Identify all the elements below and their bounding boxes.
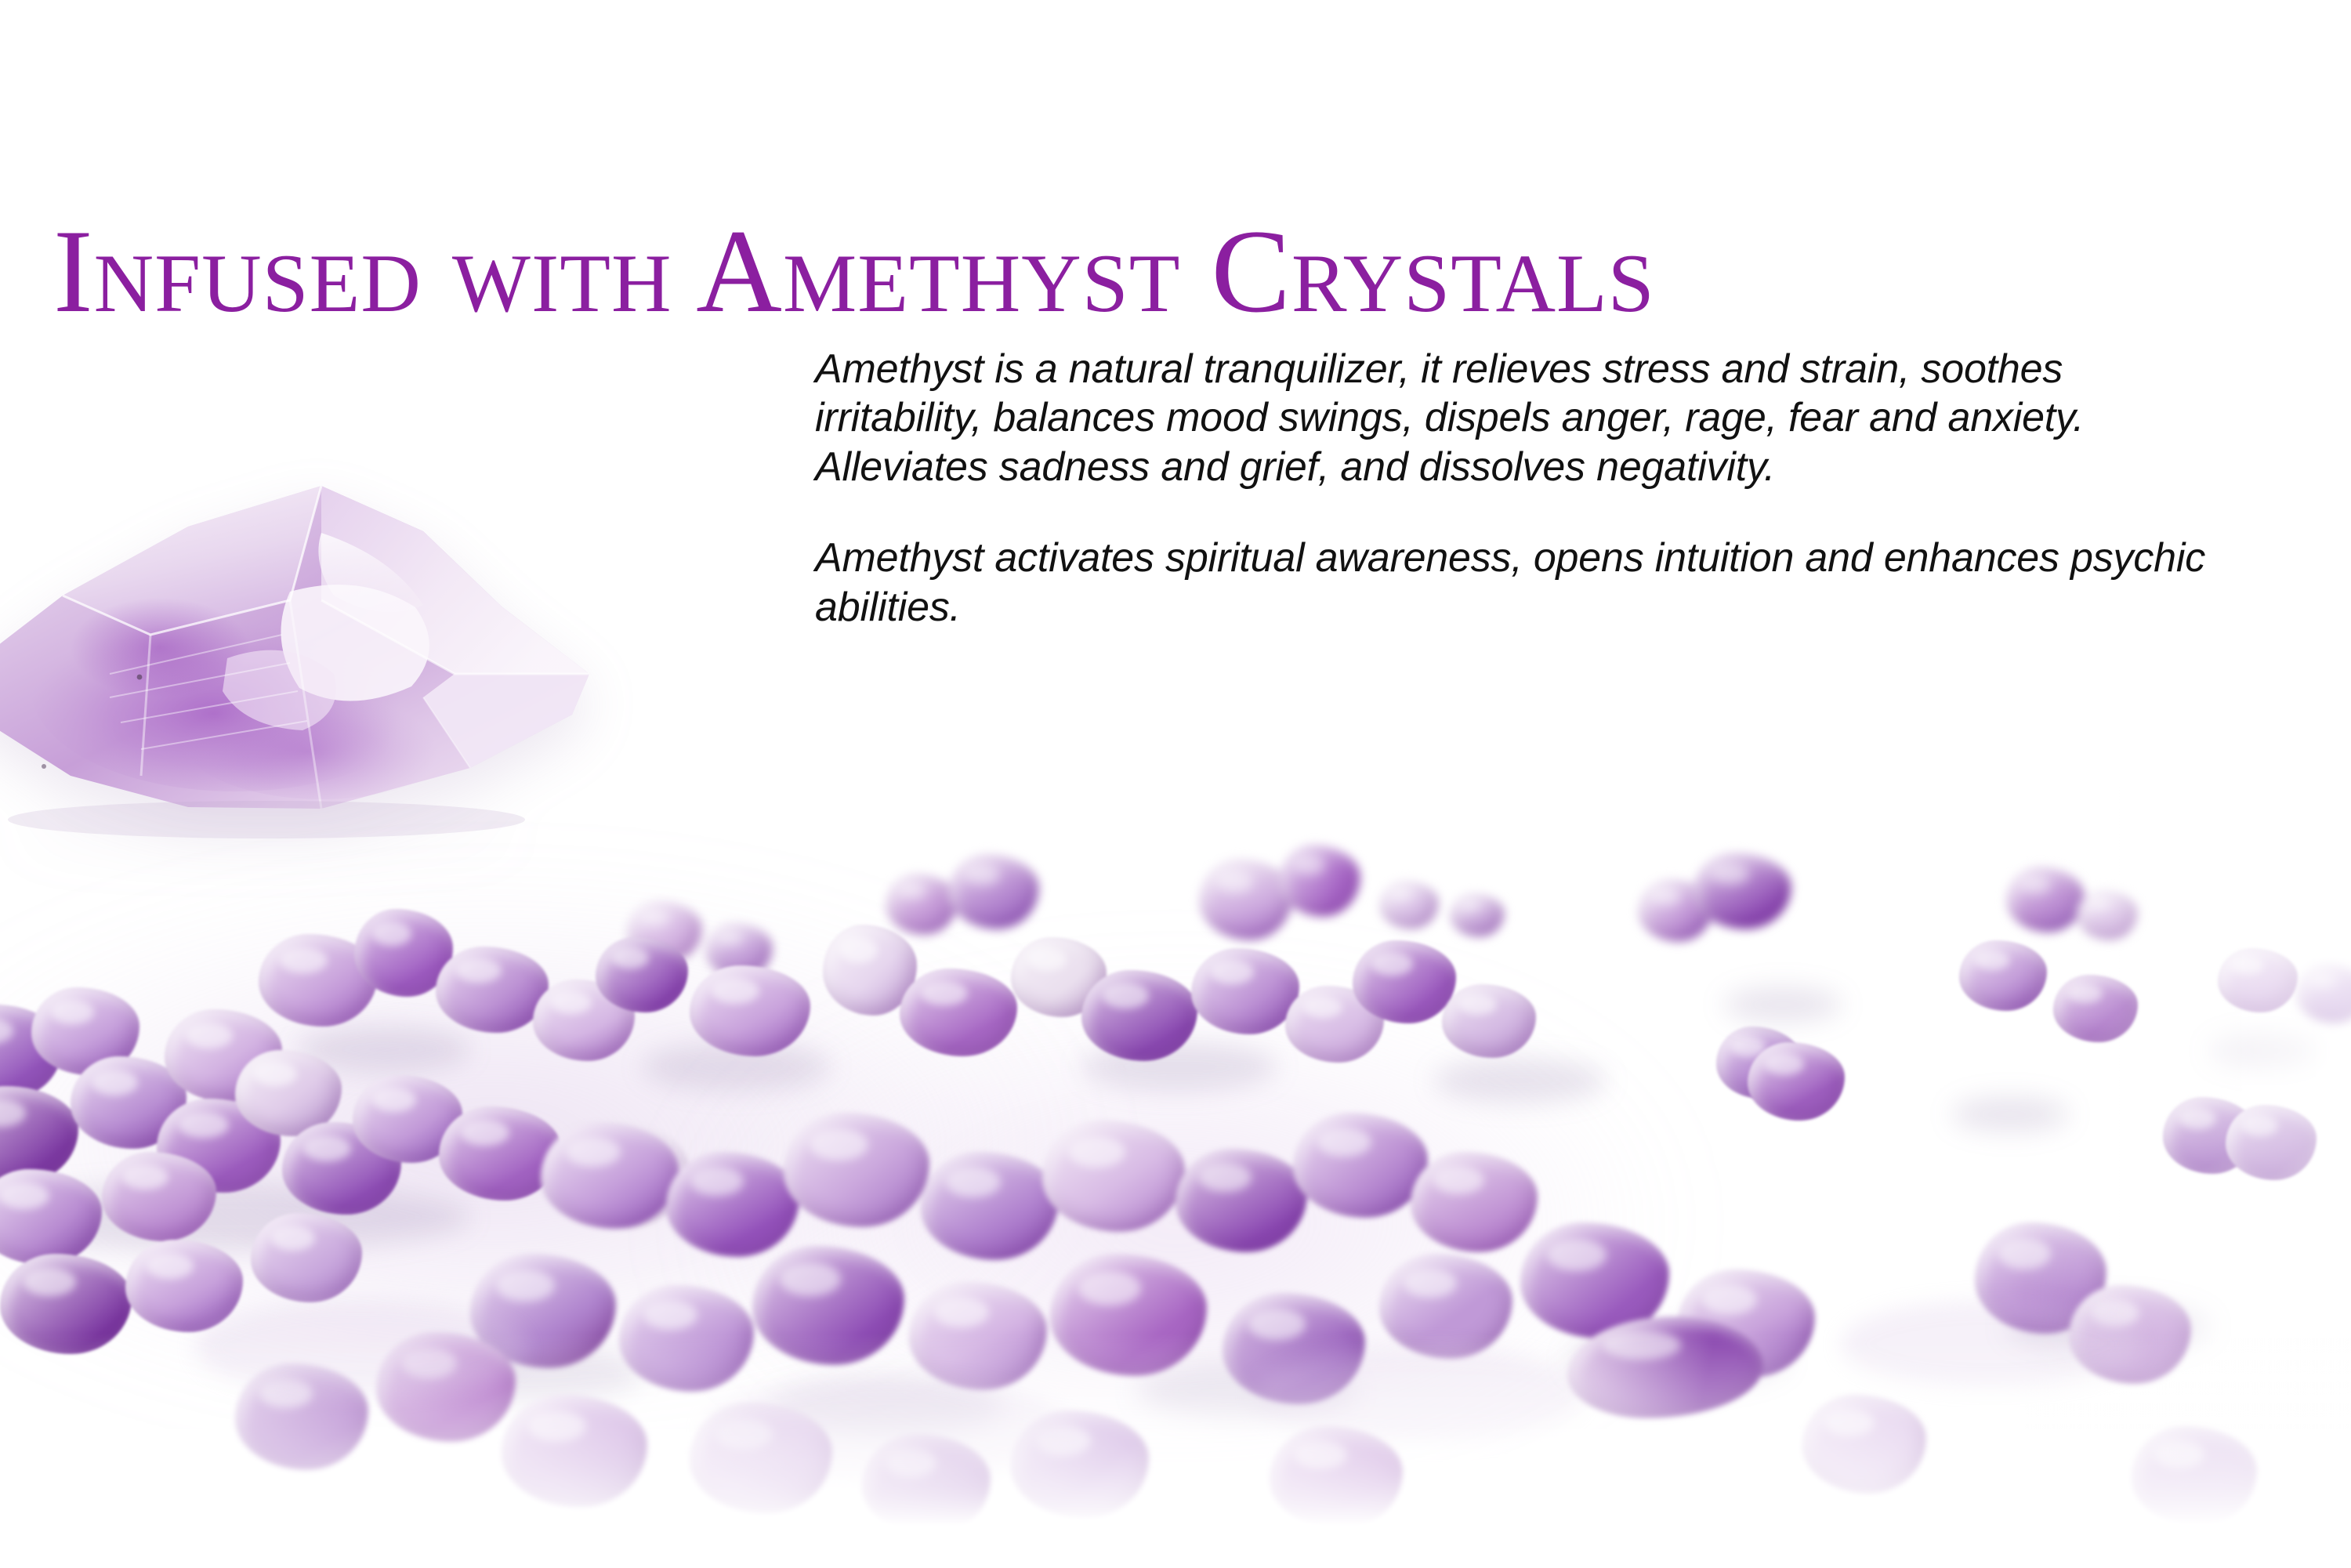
poster-canvas: Infused with Amethyst Crystals Amethyst … xyxy=(0,0,2351,1568)
ambient-haze xyxy=(0,925,1081,1363)
paragraph-spiritual: Amethyst activates spiritual awareness, … xyxy=(815,534,2233,632)
table-reflection xyxy=(705,1379,1066,1481)
body-copy: Amethyst is a natural tranquilizer, it r… xyxy=(815,345,2233,632)
ambient-haze xyxy=(705,1019,1646,1426)
table-reflection xyxy=(196,1301,525,1395)
paragraph-benefits: Amethyst is a natural tranquilizer, it r… xyxy=(815,345,2233,491)
table-reflection xyxy=(1842,1301,2139,1387)
right-edge-fade xyxy=(2022,784,2351,1568)
large-amethyst-point-crystal xyxy=(0,439,643,878)
page-title: Infused with Amethyst Crystals xyxy=(53,212,1655,331)
bottom-fade xyxy=(0,1333,2351,1568)
table-reflection xyxy=(1254,1348,1583,1442)
